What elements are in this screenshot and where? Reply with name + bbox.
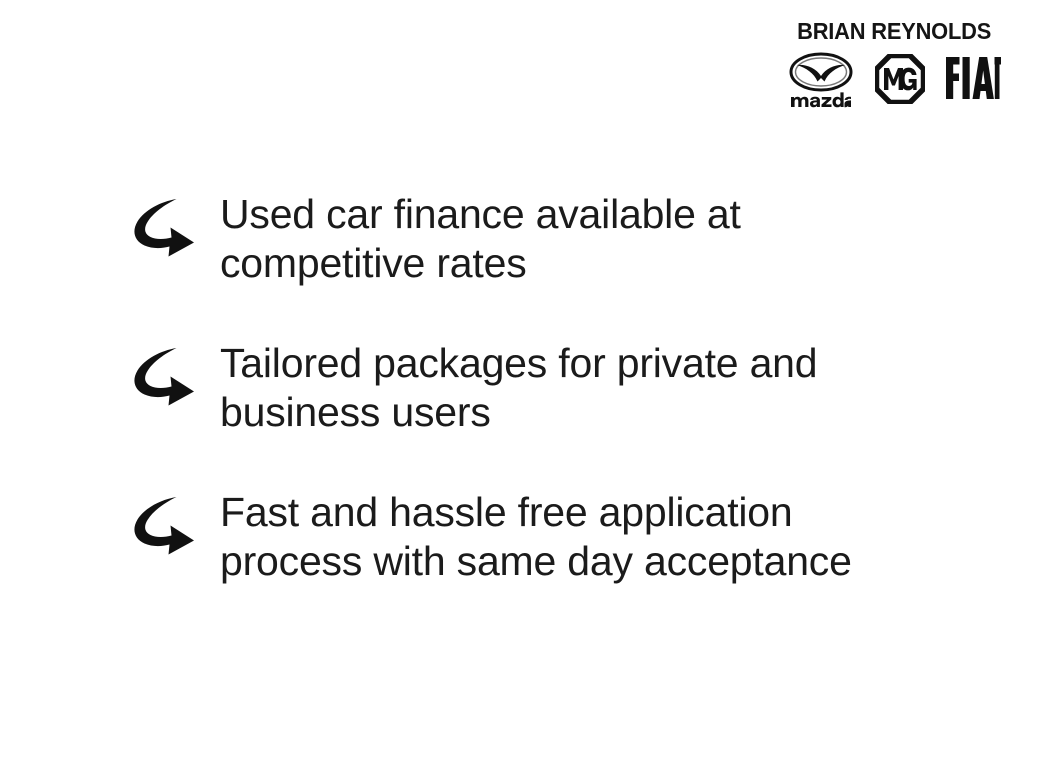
list-item-text: Used car finance available at competitiv… — [220, 188, 940, 288]
marque-logo-row — [787, 52, 1002, 108]
list-item: Used car finance available at competitiv… — [128, 188, 948, 288]
curved-arrow-icon — [128, 194, 198, 264]
marque-mazda — [787, 52, 855, 108]
benefits-list: Used car finance available at competitiv… — [128, 188, 948, 586]
list-item-text: Tailored packages for private and busine… — [220, 337, 940, 437]
curved-arrow-icon — [128, 492, 198, 562]
mazda-logo-icon — [789, 52, 853, 92]
curved-arrow-icon — [128, 343, 198, 413]
list-item: Tailored packages for private and busine… — [128, 337, 948, 437]
slide-canvas: BRIAN REYNOLDS — [0, 0, 1040, 780]
dealer-branding: BRIAN REYNOLDS — [787, 20, 1002, 108]
marque-mg — [874, 52, 926, 104]
fiat-logo-icon — [945, 56, 1001, 100]
dealer-name: BRIAN REYNOLDS — [797, 20, 991, 43]
list-item-text: Fast and hassle free application process… — [220, 486, 940, 586]
marque-fiat — [944, 52, 1002, 100]
list-item: Fast and hassle free application process… — [128, 486, 948, 586]
mazda-wordmark — [790, 92, 852, 108]
mg-logo-icon — [875, 54, 925, 104]
